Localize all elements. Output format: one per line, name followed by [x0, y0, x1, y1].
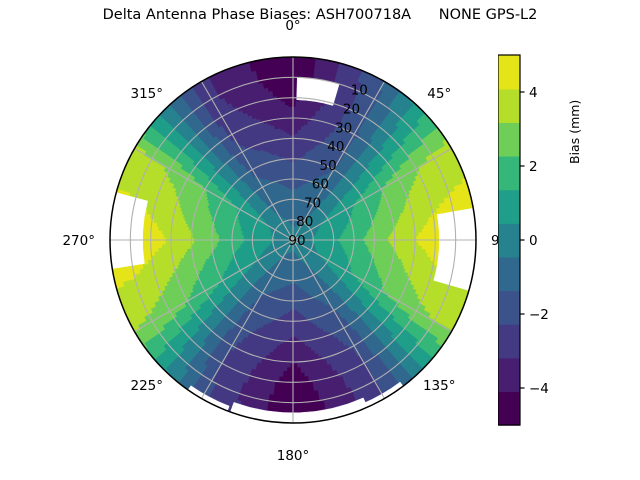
azimuth-tick-label: 45°: [427, 86, 451, 102]
colorbar-band: [498, 290, 520, 324]
colorbar-band: [498, 391, 520, 425]
azimuth-tick-label: 270°: [62, 233, 95, 249]
azimuth-tick-label: 225°: [130, 378, 163, 394]
radial-tick-label: 60: [312, 177, 329, 193]
radial-tick-label: 50: [320, 158, 337, 174]
azimuth-tick-label: 135°: [423, 378, 456, 394]
colorbar-band: [498, 358, 520, 392]
colorbar-band: [498, 190, 520, 224]
colorbar-tick-label: 0: [529, 233, 538, 249]
colorbar-band: [498, 257, 520, 291]
azimuth-tick-label: 315°: [130, 86, 163, 102]
colorbar-band: [498, 89, 520, 123]
colorbar-swatches: 420−2−4: [498, 52, 628, 432]
colorbar-band: [498, 223, 520, 257]
radial-tick-label: 90: [288, 233, 305, 249]
radial-tick-label: 70: [304, 195, 321, 211]
radial-tick-label: 80: [296, 214, 313, 230]
colorbar-tick-label: 4: [529, 85, 538, 101]
colorbar-tick-label: −2: [529, 307, 549, 323]
radial-tick-label: 30: [335, 120, 352, 136]
colorbar-band: [498, 156, 520, 190]
radial-tick-label: 10: [351, 83, 368, 99]
azimuth-tick-label: 180°: [277, 448, 310, 464]
colorbar-axis-label: Bias (mm): [567, 4, 582, 164]
colorbar-band: [498, 55, 520, 89]
colorbar-tick-label: −4: [529, 381, 549, 397]
azimuth-tick-label: 0°: [285, 18, 300, 34]
radial-tick-label: 40: [327, 139, 344, 155]
colorbar-band: [498, 324, 520, 358]
colorbar: 420−2−4 Bias (mm): [498, 52, 628, 432]
figure-canvas: Delta Antenna Phase Biases: ASH700718A N…: [0, 0, 640, 480]
radial-tick-label: 20: [343, 102, 360, 118]
colorbar-tick-label: 2: [529, 159, 538, 175]
colorbar-band: [498, 122, 520, 156]
